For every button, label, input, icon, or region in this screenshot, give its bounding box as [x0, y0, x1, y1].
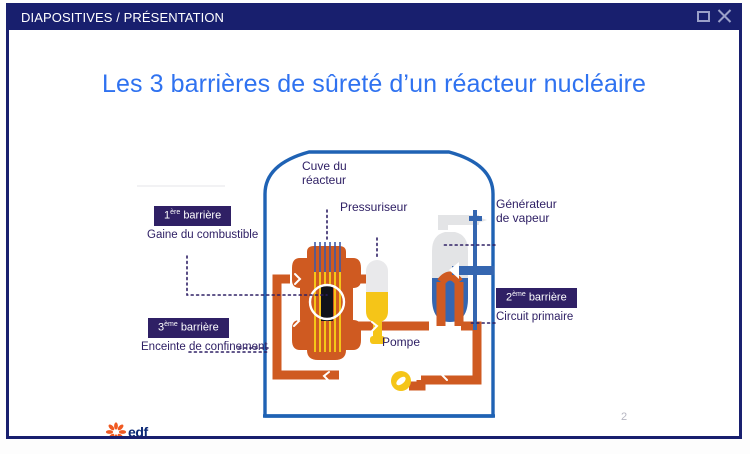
steam-generator [432, 216, 494, 326]
label-generateur-line2: de vapeur [496, 211, 557, 225]
pump [391, 371, 411, 391]
barrier-1-word: barrière [183, 210, 221, 222]
barrier-2-word: barrière [529, 292, 567, 304]
barrier-1-chip[interactable]: 1ère barrière [154, 206, 231, 226]
barrier-3-word: barrière [181, 322, 219, 334]
barrier-1-sup: ère [170, 209, 180, 216]
reactor-vessel [292, 242, 361, 360]
window-titlebar[interactable]: DIAPOSITIVES / PRÉSENTATION [9, 6, 739, 30]
secondary-tee-top [469, 216, 482, 221]
label-cuve-line2: réacteur [302, 173, 347, 187]
slide-canvas: Les 3 barrières de sûreté d’un réacteur … [9, 30, 739, 436]
window-controls [697, 9, 731, 23]
label-pompe: Pompe [382, 335, 420, 349]
pressurizer [366, 260, 388, 344]
barrier-1-caption: Gaine du combustible [147, 229, 258, 241]
screenshot-root: DIAPOSITIVES / PRÉSENTATION Les 3 barriè… [0, 0, 750, 454]
fuel-cladding-detail [321, 285, 333, 321]
label-generateur-de-vapeur: Générateur de vapeur [496, 197, 557, 225]
barrier-3-chip[interactable]: 3ème barrière [148, 318, 229, 338]
close-window-icon[interactable] [717, 9, 731, 23]
barrier-2-chip[interactable]: 2ème barrière [496, 288, 577, 308]
label-cuve-du-reacteur: Cuve du réacteur [302, 159, 347, 187]
label-generateur-line1: Générateur [496, 197, 557, 211]
barrier-3-caption: Enceinte de confinement [141, 341, 268, 353]
barrier-3-sup: ème [164, 321, 178, 328]
edf-logo: edf [105, 422, 167, 436]
edf-wordmark: edf [128, 424, 148, 436]
label-cuve-line1: Cuve du [302, 159, 347, 173]
window-title: DIAPOSITIVES / PRÉSENTATION [21, 10, 224, 25]
barrier-2-sup: ème [512, 291, 526, 298]
slide-page-number: 2 [621, 411, 627, 423]
barrier-2-caption: Circuit primaire [496, 311, 573, 323]
restore-window-icon[interactable] [697, 11, 710, 22]
reactor-diagram [9, 30, 739, 436]
presentation-window: DIAPOSITIVES / PRÉSENTATION Les 3 barriè… [6, 3, 742, 439]
edf-sunburst-icon [105, 422, 127, 436]
label-pressuriseur: Pressuriseur [340, 200, 407, 214]
